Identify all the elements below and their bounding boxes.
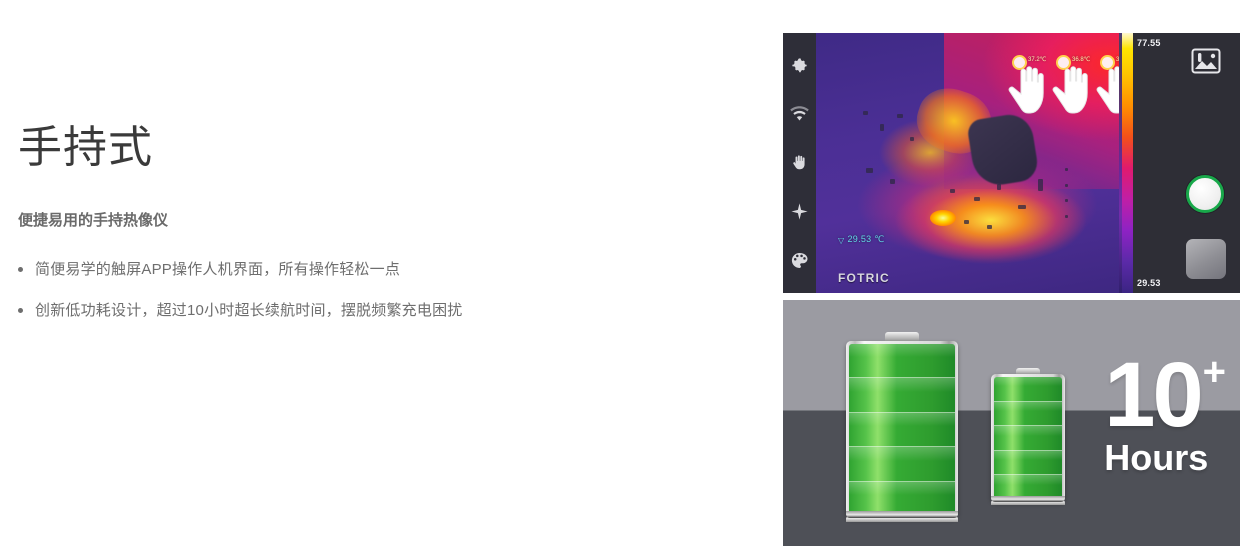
bullet-dot-icon (18, 267, 23, 272)
focus-icon[interactable] (790, 202, 809, 221)
hand-cursor-icon (1008, 63, 1050, 117)
preview-thumbnail[interactable] (1186, 239, 1226, 279)
gear-icon[interactable] (790, 56, 809, 75)
readout-value: 29.53 ℃ (847, 234, 884, 245)
subtitle: 便捷易用的手持热像仪 (18, 209, 758, 230)
hours-number: 10 (1104, 356, 1200, 435)
hours-plus-sign: + (1203, 350, 1226, 394)
battery-large-fill (849, 344, 955, 515)
thermal-toolbar (783, 33, 816, 293)
battery-life-graphic: 10+ Hours (783, 300, 1240, 546)
text-column: 手持式 便捷易用的手持热像仪 简便易学的触屏APP操作人机界面，所有操作轻松一点… (18, 120, 758, 341)
readout-marker-icon: ▽ (838, 237, 844, 245)
marketing-slide: 手持式 便捷易用的手持热像仪 简便易学的触屏APP操作人机界面，所有操作轻松一点… (0, 0, 1240, 559)
battery-large (846, 332, 958, 518)
scale-max-value: 77.55 (1137, 38, 1161, 48)
brand-logo: FOTRIC (838, 271, 890, 285)
page-title: 手持式 (18, 120, 758, 175)
touch-temp-label: 36.8℃ (1072, 56, 1090, 63)
thermal-camera-screenshot: 37.2℃ 36.8℃ 37.5℃ (783, 33, 1240, 293)
temperature-readout: ▽ 29.53 ℃ (838, 234, 885, 245)
palette-icon[interactable] (790, 251, 809, 270)
list-item: 创新低功耗设计，超过10小时超长续航时间，摆脱频繁充电困扰 (18, 299, 578, 322)
hand-icon[interactable] (790, 153, 809, 172)
feature-list: 简便易学的触屏APP操作人机界面，所有操作轻松一点 创新低功耗设计，超过10小时… (18, 258, 758, 323)
scale-min-value: 29.53 (1137, 278, 1161, 288)
shutter-button[interactable] (1186, 175, 1224, 213)
touch-point[interactable]: 37.2℃ (1008, 55, 1050, 117)
list-item: 简便易学的触屏APP操作人机界面，所有操作轻松一点 (18, 258, 578, 281)
bullet-dot-icon (18, 308, 23, 313)
temperature-color-scale (1119, 33, 1133, 293)
touch-point[interactable]: 36.8℃ (1052, 55, 1094, 117)
hand-cursor-icon (1052, 63, 1094, 117)
battery-small-fill (994, 377, 1062, 499)
wifi-icon[interactable] (790, 105, 809, 124)
thermal-image-view[interactable]: 37.2℃ 36.8℃ 37.5℃ (816, 33, 1152, 293)
list-item-text: 简便易学的触屏APP操作人机界面，所有操作轻松一点 (35, 261, 400, 278)
thermal-controls: 77.55 29.53 (1133, 33, 1240, 293)
gallery-icon[interactable] (1190, 47, 1222, 75)
touch-temp-label: 37.2℃ (1028, 56, 1046, 63)
thermal-hotspot (930, 210, 956, 226)
battery-hours-callout: 10+ Hours (1104, 356, 1224, 479)
hours-label: Hours (1104, 437, 1224, 479)
list-item-text: 创新低功耗设计，超过10小时超长续航时间，摆脱频繁充电困扰 (35, 302, 463, 319)
battery-small (991, 368, 1065, 502)
